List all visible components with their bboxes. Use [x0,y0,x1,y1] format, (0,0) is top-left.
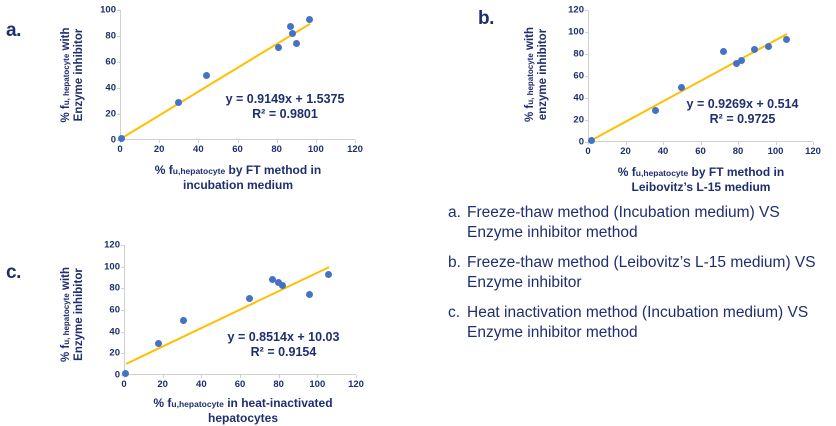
legend-marker-b: b. [448,253,467,292]
y-tick-label-c-60: 60 [109,305,120,316]
x-label-b-post: by FT method in [688,165,784,179]
x-tick-label-c-0: 0 [121,379,126,390]
y-tick-label-a-60: 60 [105,57,116,68]
x-label-c-sub: u,hepatocyte [171,399,223,409]
x-tick-mark-b-80 [738,142,739,145]
data-point [765,43,772,50]
x-tick-label-b-0: 0 [585,146,590,157]
y-tick-mark-c-20 [121,353,124,354]
panel-a-equation-line: y = 0.9149x + 1.5375 [200,92,370,107]
x-tick-label-a-120: 120 [347,144,363,155]
legend-text-c: Heat inactivation method (Incubation med… [467,303,828,342]
y-tick-mark-c-80 [121,288,124,289]
panel-b-equation: y = 0.9269x + 0.514 R² = 0.9725 [655,97,830,127]
x-tick-label-b-40: 40 [658,146,669,157]
y-tick-label-b-80: 80 [573,49,584,60]
y-label-a-pre: % f [60,105,72,122]
data-point [293,40,300,47]
x-tick-mark-b-40 [663,142,664,145]
y-tick-label-c-0: 0 [115,370,120,381]
panel-a-equation: y = 0.9149x + 1.5375 R² = 0.9801 [200,92,370,122]
y-label-a-post: with [60,27,72,53]
data-point [279,282,286,289]
x-tick-mark-c-40 [201,375,202,378]
x-tick-label-c-120: 120 [348,379,364,390]
figure-legend: a. Freeze-thaw method (Incubation medium… [448,203,828,353]
legend-marker-c: c. [448,303,467,342]
y-label-b-pre: % f [524,105,536,122]
panel-b-r2-line: R² = 0.9725 [655,112,830,127]
panel-c-x-axis-title: % fu,hepatocyte in heat-inactivated hepa… [104,396,382,425]
x-tick-label-c-40: 40 [196,379,207,390]
x-tick-mark-a-40 [198,140,199,143]
y-tick-label-a-20: 20 [105,109,116,120]
x-tick-label-b-100: 100 [768,146,784,157]
y-tick-mark-a-80 [117,36,120,37]
panel-a-letter: a. [6,20,21,42]
panel-a-y-axis [120,10,121,140]
x-label-a-sub: u,hepatocyte [173,166,225,176]
x-tick-mark-c-120 [356,375,357,378]
panel-b-y-axis [588,10,589,142]
x-tick-label-a-0: 0 [117,144,122,155]
data-point [678,84,685,91]
x-tick-mark-b-20 [626,142,627,145]
y-tick-label-b-100: 100 [568,27,584,38]
legend-text-b: Freeze-thaw method (Leibovitz’s L-15 med… [467,253,828,292]
panel-a-x-axis-title: % fu,hepatocyte by FT method in incubati… [103,163,373,192]
y-tick-label-a-0: 0 [111,135,116,146]
y-tick-mark-b-40 [585,98,588,99]
y-label-b-post: with [524,27,536,53]
x-tick-label-c-60: 60 [235,379,246,390]
data-point [275,44,282,51]
x-label-c-line2: hepatocytes [104,411,382,425]
panel-a-r2-line: R² = 0.9801 [200,107,370,122]
y-tick-label-b-40: 40 [573,93,584,104]
panel-b-equation-line: y = 0.9269x + 0.514 [655,97,830,112]
x-tick-label-a-60: 60 [232,144,243,155]
panel-b-letter: b. [478,8,494,30]
panel-b-x-axis-title: % fu,hepatocyte by FT method in Leibovit… [570,165,832,194]
y-tick-label-c-20: 20 [109,348,120,359]
legend-item-b: b. Freeze-thaw method (Leibovitz’s L-15 … [448,253,828,292]
y-tick-mark-b-80 [585,54,588,55]
x-tick-label-c-20: 20 [157,379,168,390]
y-tick-mark-c-40 [121,332,124,333]
x-tick-mark-a-20 [159,140,160,143]
x-tick-mark-b-120 [813,142,814,145]
x-tick-label-a-20: 20 [154,144,165,155]
data-point [246,295,253,302]
y-tick-label-a-100: 100 [100,5,116,16]
y-tick-label-a-40: 40 [105,83,116,94]
x-tick-mark-b-60 [701,142,702,145]
data-point [118,135,125,142]
x-label-c-post: in heat-inactivated [224,396,333,410]
x-tick-label-b-120: 120 [805,146,821,157]
y-tick-label-a-80: 80 [105,31,116,42]
y-tick-label-b-0: 0 [579,137,584,148]
y-label-c-post: with [60,267,72,293]
x-tick-label-c-100: 100 [309,379,325,390]
y-label-a-line2: Enzyme inhibitor [73,0,86,150]
x-tick-mark-b-100 [776,142,777,145]
x-tick-mark-c-20 [163,375,164,378]
legend-item-c: c. Heat inactivation method (Incubation … [448,303,828,342]
y-label-b-sub: u, hepatocyte [526,53,535,105]
y-tick-mark-c-100 [121,267,124,268]
y-label-c-sub: u, hepatocyte [62,293,71,345]
legend-item-a: a. Freeze-thaw method (Incubation medium… [448,203,828,242]
data-point [783,36,790,43]
y-label-c-line2: Enzyme inhibitor [73,237,86,392]
x-label-c-pre: % f [153,396,171,410]
y-label-a-sub: u, hepatocyte [62,54,71,106]
x-tick-label-b-20: 20 [620,146,631,157]
panel-c-y-axis-title: % fu, hepatocyte with Enzyme inhibitor [60,237,86,392]
x-label-b-pre: % f [618,165,636,179]
y-tick-label-b-60: 60 [573,71,584,82]
x-tick-mark-a-80 [277,140,278,143]
y-tick-label-b-120: 120 [568,5,584,16]
panel-c-equation: y = 0.8514x + 10.03 R² = 0.9154 [196,330,371,360]
y-tick-mark-b-60 [585,76,588,77]
panel-b-y-axis-title: % fu, hepatocyte with enzyme inhibitor [524,0,550,152]
data-point [751,46,758,53]
x-tick-mark-c-100 [317,375,318,378]
y-tick-label-c-120: 120 [104,240,120,251]
y-tick-mark-a-60 [117,62,120,63]
y-tick-mark-b-120 [585,10,588,11]
x-tick-label-a-40: 40 [193,144,204,155]
x-tick-mark-a-120 [355,140,356,143]
data-point [720,48,727,55]
x-label-b-line2: Leibovitz’s L-15 medium [570,180,832,194]
y-tick-mark-a-100 [117,10,120,11]
x-label-a-pre: % f [155,163,173,177]
data-point [175,99,182,106]
legend-text-a: Freeze-thaw method (Incubation medium) V… [467,203,828,242]
data-point [588,137,595,144]
legend-marker-a: a. [448,203,467,242]
x-label-b-sub: u,hepatocyte [636,168,688,178]
data-point [203,72,210,79]
x-tick-label-b-80: 80 [733,146,744,157]
x-tick-mark-c-60 [240,375,241,378]
data-point [289,30,296,37]
y-tick-mark-c-120 [121,245,124,246]
x-label-a-post: by FT method in [225,163,321,177]
y-tick-mark-b-20 [585,120,588,121]
x-tick-label-a-80: 80 [271,144,282,155]
panel-c-y-axis [124,245,125,375]
data-point [325,271,332,278]
x-tick-label-b-60: 60 [695,146,706,157]
y-tick-label-c-40: 40 [109,326,120,337]
x-tick-mark-a-100 [316,140,317,143]
y-tick-mark-a-40 [117,88,120,89]
y-tick-mark-c-60 [121,310,124,311]
y-label-b-line2: enzyme inhibitor [537,0,550,152]
data-point [180,317,187,324]
panel-a-y-axis-title: % fu, hepatocyte with Enzyme inhibitor [60,0,86,150]
panel-c-equation-line: y = 0.8514x + 10.03 [196,330,371,345]
x-tick-label-c-80: 80 [273,379,284,390]
data-point [122,370,129,377]
y-tick-mark-a-20 [117,114,120,115]
x-tick-label-a-100: 100 [308,144,324,155]
y-label-c-pre: % f [60,345,72,362]
x-label-a-line2: incubation medium [103,178,373,192]
data-point [738,57,745,64]
data-point [306,291,313,298]
x-tick-mark-c-80 [279,375,280,378]
x-tick-mark-a-60 [238,140,239,143]
y-tick-label-c-100: 100 [104,261,120,272]
panel-c-letter: c. [6,262,21,284]
panel-c-r2-line: R² = 0.9154 [196,345,371,360]
y-tick-mark-b-100 [585,32,588,33]
y-tick-label-c-80: 80 [109,283,120,294]
data-point [306,16,313,23]
y-tick-label-b-20: 20 [573,115,584,126]
